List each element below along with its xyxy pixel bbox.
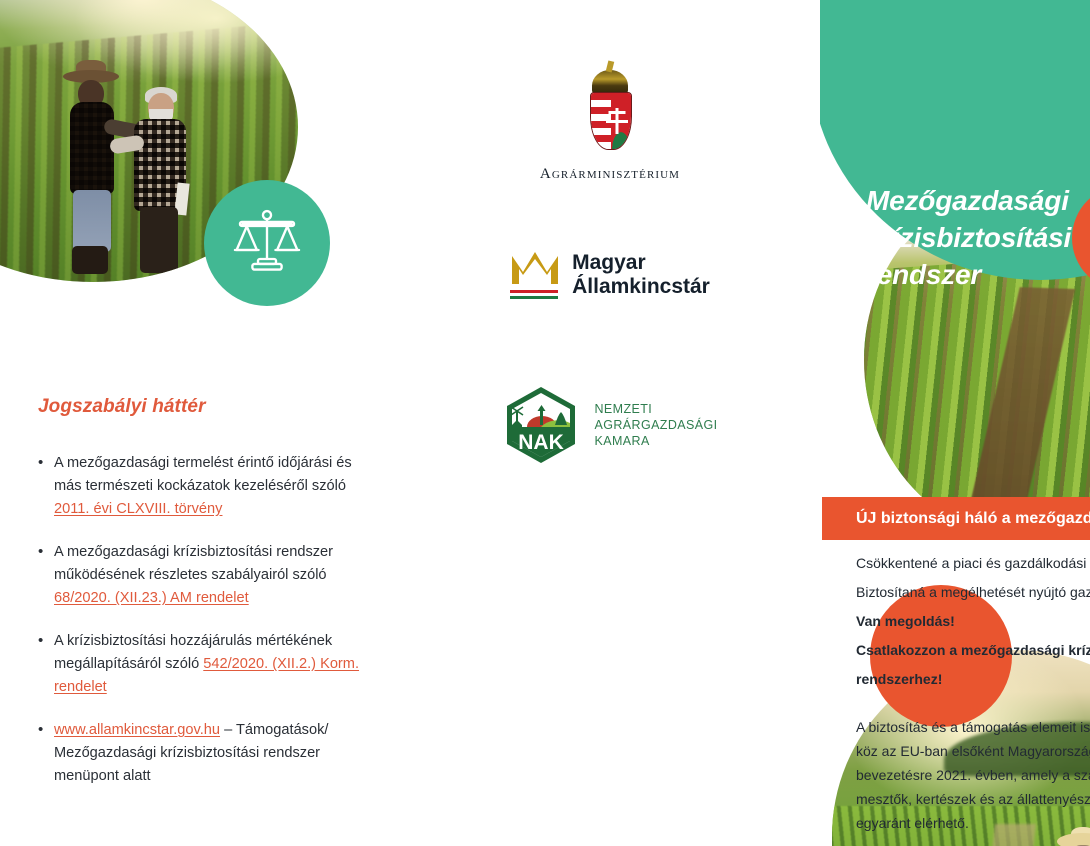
list-item: www.allamkincstar.gov.hu – Támogatások/ … (36, 719, 376, 788)
banner-text: ÚJ biztonsági háló a mezőgazdaságban (822, 510, 1090, 528)
list-item: A mezőgazdasági krízisbiztosítási rendsz… (36, 541, 376, 610)
agrarminiszterium-logo: Agrárminisztérium (400, 70, 820, 183)
right-panel: Mezőgazdasági krízisbiztosítási rendszer… (820, 0, 1090, 846)
hungarian-coat-of-arms-icon (584, 70, 636, 158)
mak-monogram-icon (510, 250, 560, 299)
nak-wordmark: NEMZETI AGRÁRGAZDASÁGI KAMARA (595, 401, 718, 449)
paragraph-line: egyaránt elérhető. (856, 812, 1090, 834)
body-line-bold: Van megoldás! (856, 610, 1090, 632)
paragraph-line: A biztosítás és a támogatás elemeit is m… (856, 716, 1090, 738)
nak-logo: NAK NEMZETI AGRÁRGAZDASÁGI KAMARA (400, 385, 820, 465)
legal-references-list: A mezőgazdasági termelést érintő időjárá… (36, 452, 376, 808)
magyar-allamkincstar-logo: Magyar Államkincstár (400, 250, 820, 299)
law-link[interactable]: 2011. évi CLXVIII. törvény (54, 501, 222, 517)
agrarminiszterium-label: Agrárminisztérium (400, 166, 820, 183)
body-line: Biztosítaná a megélhetését nyújtó gazdas… (856, 581, 1090, 603)
brochure-page: Jogszabályi háttér A mezőgazdasági terme… (0, 0, 1090, 846)
legal-background-heading: Jogszabályi háttér (38, 396, 206, 418)
list-item: A mezőgazdasági termelést érintő időjárá… (36, 452, 376, 521)
center-panel: Agrárminisztérium Magyar Államkincstár (400, 0, 820, 846)
bullet-lead-text: A mezőgazdasági krízisbiztosítási rendsz… (54, 544, 333, 583)
orange-banner: ÚJ biztonsági háló a mezőgazdaságban (822, 497, 1090, 540)
paragraph-line: bevezetésre 2021. évben, amely a szántóf… (856, 764, 1090, 786)
body-line-bold: rendszerhez! (856, 668, 1090, 690)
left-panel: Jogszabályi háttér A mezőgazdasági terme… (0, 0, 400, 846)
bullet-lead-text: A mezőgazdasági termelést érintő időjárá… (54, 455, 352, 494)
farmer-figure-right (132, 71, 198, 276)
nak-hexagon-icon: NAK (503, 385, 579, 465)
paragraph-line: mesztők, kertészek és az állattenyésztők… (856, 788, 1090, 810)
hungarian-flag-bars-icon (510, 290, 558, 299)
body-line-bold: Csatlakozzon a mezőgazdasági krízisbizto… (856, 639, 1090, 661)
page-title: Mezőgazdasági krízisbiztosítási rendszer (866, 182, 1090, 293)
website-link[interactable]: www.allamkincstar.gov.hu (54, 722, 220, 738)
balance-scale-badge (204, 180, 330, 306)
paragraph-line: köz az EU-ban elsőként Magyarországon ke… (856, 740, 1090, 762)
svg-text:NAK: NAK (518, 431, 564, 454)
list-item: A krízisbiztosítási hozzájárulás mértéké… (36, 630, 376, 699)
body-line: Csökkentené a piaci és gazdálkodási kock… (856, 552, 1090, 574)
right-body-text: Csökkentené a piaci és gazdálkodási kock… (856, 552, 1090, 836)
balance-scale-icon (231, 205, 303, 282)
info-paragraph: A biztosítás és a támogatás elemeit is m… (856, 716, 1090, 834)
farmer-figure-left (66, 54, 126, 276)
mak-wordmark: Magyar Államkincstár (572, 251, 710, 299)
law-link[interactable]: 68/2020. (XII.23.) AM rendelet (54, 590, 249, 606)
